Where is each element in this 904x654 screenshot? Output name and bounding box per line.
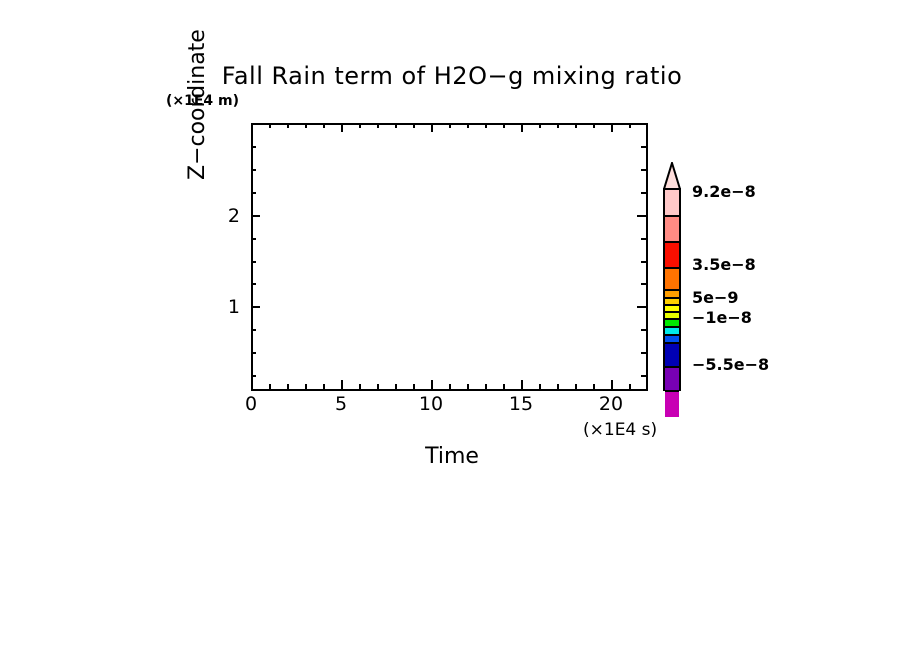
x-tick-minor-top xyxy=(503,123,505,128)
colorbar-separator xyxy=(665,289,679,291)
x-tick-minor-top xyxy=(539,123,541,128)
y-tick-minor xyxy=(251,169,256,171)
x-tick-minor-top xyxy=(323,123,325,128)
y-tick-minor xyxy=(251,192,256,194)
colorbar-band-14 xyxy=(665,391,679,417)
x-tick-minor-top xyxy=(395,123,397,128)
x-tick-minor xyxy=(305,384,307,389)
x-tick-minor xyxy=(467,384,469,389)
x-axis-unit-label: (×1E4 s) xyxy=(583,420,657,440)
x-tick-minor-top xyxy=(467,123,469,128)
x-tick-major-0 xyxy=(251,380,253,389)
colorbar-separator xyxy=(665,215,679,217)
x-tick-major-top xyxy=(521,123,523,132)
x-tick-minor-top xyxy=(449,123,451,128)
x-tick-major-20 xyxy=(611,380,613,389)
colorbar-band-04 xyxy=(665,268,679,290)
x-tick-major-top xyxy=(611,123,613,132)
colorbar-band-13 xyxy=(665,367,679,391)
y-tick-minor-right xyxy=(641,169,646,171)
colorbar-bands xyxy=(663,188,681,391)
x-tick-label-15: 15 xyxy=(501,393,541,415)
x-tick-minor xyxy=(593,384,595,389)
y-tick-minor-right xyxy=(641,238,646,240)
x-tick-minor xyxy=(485,384,487,389)
y-tick-minor xyxy=(251,375,256,377)
y-tick-minor-right xyxy=(641,283,646,285)
y-tick-minor-right xyxy=(641,261,646,263)
colorbar-band-02 xyxy=(665,216,679,242)
x-tick-minor-top xyxy=(557,123,559,128)
x-tick-minor xyxy=(557,384,559,389)
x-tick-minor xyxy=(449,384,451,389)
colorbar-separator xyxy=(665,326,679,328)
colorbar-separator xyxy=(665,342,679,344)
x-tick-minor xyxy=(395,384,397,389)
colorbar-separator xyxy=(665,390,679,392)
colorbar-separator xyxy=(665,241,679,243)
colorbar-band-12 xyxy=(665,343,679,367)
colorbar-band-01 xyxy=(665,190,679,216)
x-tick-minor-top xyxy=(629,123,631,128)
y-tick-minor xyxy=(251,146,256,148)
x-tick-major-15 xyxy=(521,380,523,389)
y-tick-minor xyxy=(251,261,256,263)
x-tick-minor xyxy=(287,384,289,389)
y-tick-label-2: 2 xyxy=(210,205,240,227)
y-tick-minor-right xyxy=(641,146,646,148)
colorbar-label-0: 9.2e−8 xyxy=(692,182,756,201)
x-tick-label-20: 20 xyxy=(591,393,631,415)
x-tick-minor-top xyxy=(269,123,271,128)
x-tick-minor xyxy=(539,384,541,389)
page-title: Fall Rain term of H2O−g mixing ratio xyxy=(0,62,904,90)
y-tick-major-1 xyxy=(251,306,260,308)
colorbar-label-2: 5e−9 xyxy=(692,288,739,307)
x-tick-minor-top xyxy=(593,123,595,128)
x-tick-minor-top xyxy=(377,123,379,128)
x-tick-minor xyxy=(359,384,361,389)
y-tick-major-right xyxy=(637,306,646,308)
y-tick-minor xyxy=(251,283,256,285)
x-tick-major-10 xyxy=(431,380,433,389)
colorbar-band-03 xyxy=(665,242,679,268)
x-tick-minor xyxy=(269,384,271,389)
x-tick-minor-top xyxy=(287,123,289,128)
x-tick-minor xyxy=(503,384,505,389)
y-tick-minor-right xyxy=(641,375,646,377)
x-tick-minor-top xyxy=(485,123,487,128)
y-tick-minor xyxy=(251,329,256,331)
x-tick-minor xyxy=(575,384,577,389)
x-tick-major-top xyxy=(341,123,343,132)
x-tick-minor-top xyxy=(305,123,307,128)
x-tick-major-5 xyxy=(341,380,343,389)
x-tick-major-top xyxy=(431,123,433,132)
x-tick-minor-top xyxy=(575,123,577,128)
y-tick-minor xyxy=(251,352,256,354)
plot-area xyxy=(251,123,648,391)
x-tick-minor xyxy=(323,384,325,389)
colorbar-separator xyxy=(665,267,679,269)
y-axis-title: Z−coordinate xyxy=(185,10,210,180)
colorbar xyxy=(663,162,681,391)
x-axis-title: Time xyxy=(0,444,904,469)
colorbar-separator xyxy=(665,366,679,368)
y-tick-minor-right xyxy=(641,192,646,194)
x-tick-label-10: 10 xyxy=(411,393,451,415)
x-tick-label-5: 5 xyxy=(321,393,361,415)
y-tick-minor-right xyxy=(641,352,646,354)
x-tick-minor-top xyxy=(359,123,361,128)
y-tick-minor-right xyxy=(641,329,646,331)
x-tick-minor xyxy=(413,384,415,389)
x-tick-minor xyxy=(377,384,379,389)
colorbar-separator xyxy=(665,297,679,299)
colorbar-label-4: −5.5e−8 xyxy=(692,355,769,374)
y-tick-minor xyxy=(251,238,256,240)
colorbar-separator xyxy=(665,304,679,306)
x-tick-minor xyxy=(629,384,631,389)
colorbar-separator xyxy=(665,318,679,320)
y-tick-major-2 xyxy=(251,215,260,217)
colorbar-separator xyxy=(665,311,679,313)
x-tick-minor-top xyxy=(413,123,415,128)
colorbar-label-1: 3.5e−8 xyxy=(692,255,756,274)
colorbar-label-3: −1e−8 xyxy=(692,308,752,327)
y-tick-major-right xyxy=(637,215,646,217)
colorbar-arrow-icon xyxy=(663,162,681,189)
colorbar-separator xyxy=(665,334,679,336)
y-tick-label-1: 1 xyxy=(210,296,240,318)
x-tick-label-0: 0 xyxy=(231,393,271,415)
